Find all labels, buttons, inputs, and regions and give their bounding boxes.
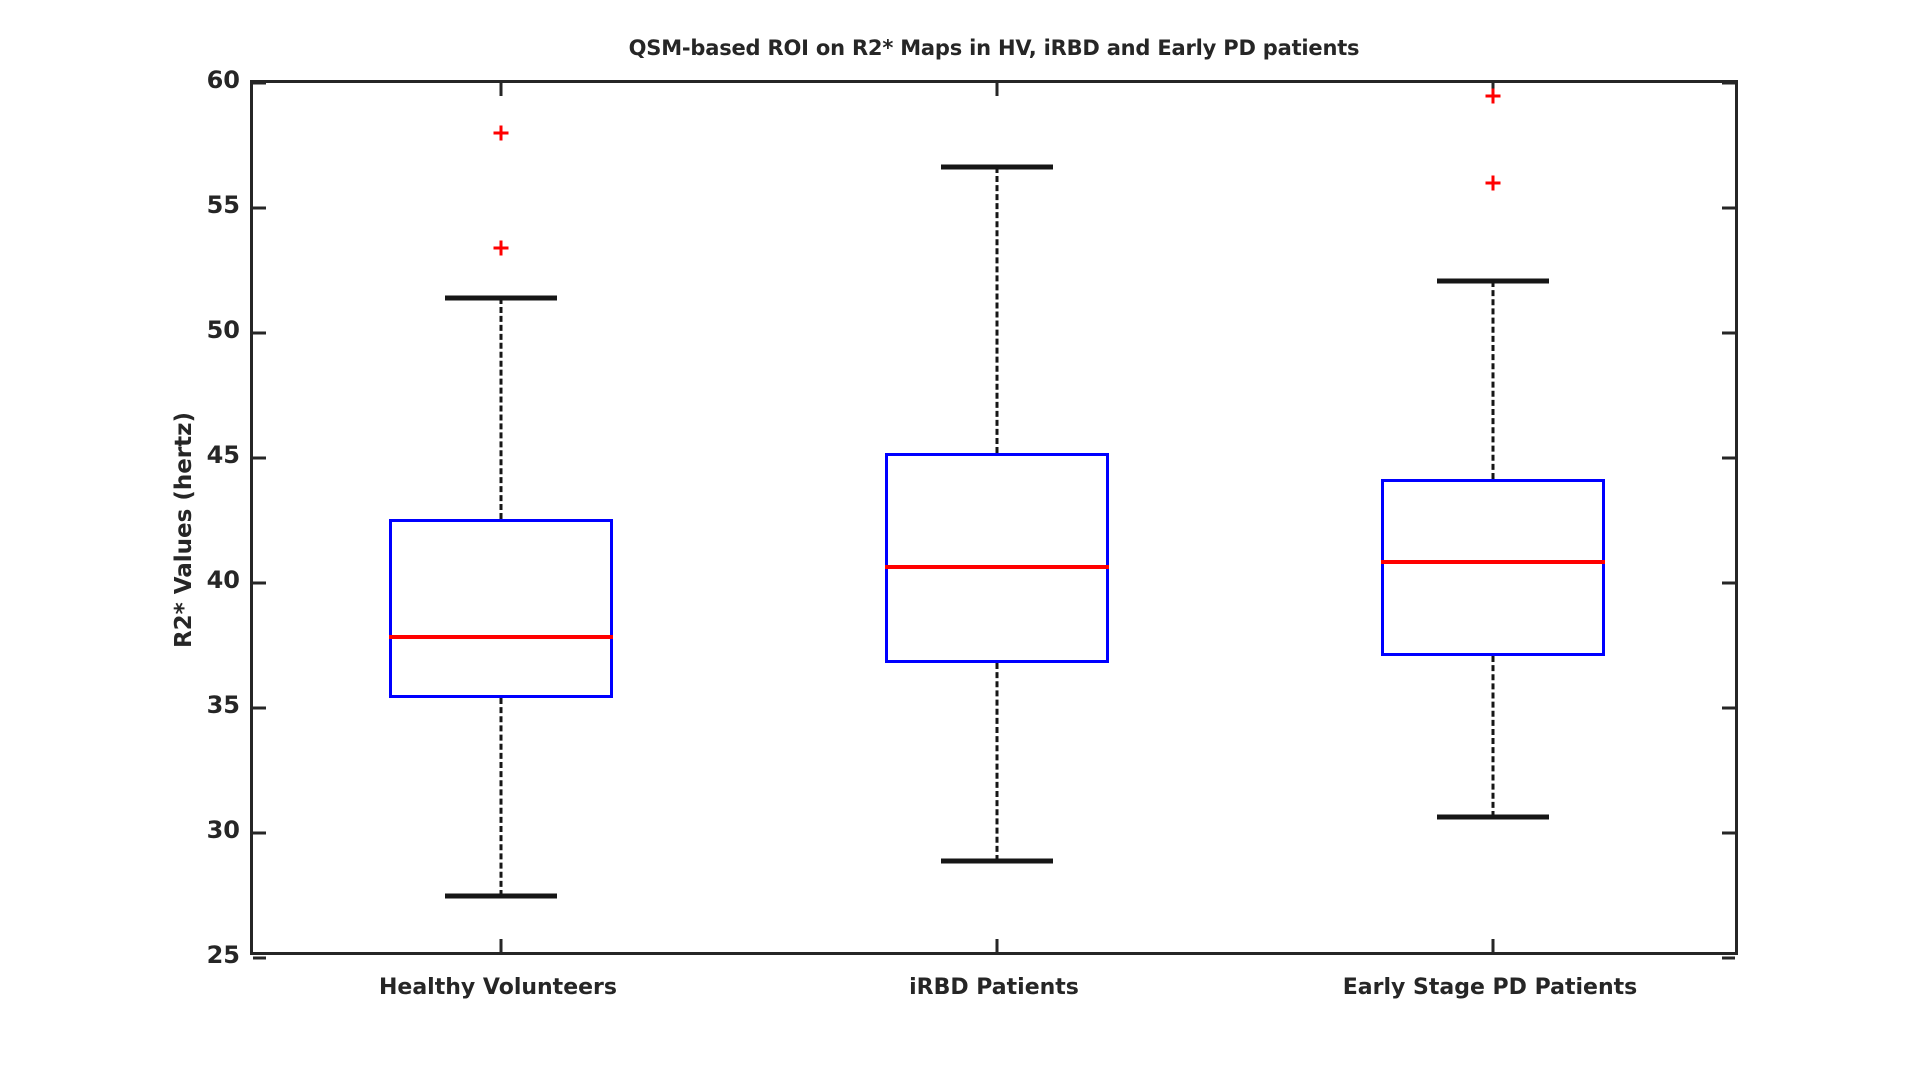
x-axis-tick-mark-top [996, 83, 999, 96]
y-axis-tick-mark-right [1722, 582, 1735, 585]
whisker-lower [1492, 656, 1495, 817]
y-axis-tick-label: 60 [176, 68, 240, 92]
y-axis-tick-label: 35 [176, 693, 240, 717]
whisker-upper [1492, 281, 1495, 480]
plot-area [250, 80, 1738, 955]
whisker-upper [996, 167, 999, 453]
x-axis-tick-mark [996, 939, 999, 952]
y-axis-tick-mark [253, 82, 266, 85]
page-title: QSM-based ROI on R2* Maps in HV, iRBD an… [250, 36, 1738, 60]
y-axis-tick-mark-right [1722, 207, 1735, 210]
whisker-lower [996, 663, 999, 861]
median-line [389, 635, 613, 639]
y-axis-tick-mark [253, 832, 266, 835]
y-axis-tick-mark [253, 207, 266, 210]
x-axis-tick-mark [1492, 939, 1495, 952]
x-axis-tick-label: iRBD Patients [784, 975, 1204, 1000]
figure-canvas: QSM-based ROI on R2* Maps in HV, iRBD an… [0, 0, 1920, 1076]
y-axis-tick-label: 30 [176, 818, 240, 842]
y-axis-tick-mark-right [1722, 82, 1735, 85]
y-axis-tick-label: 55 [176, 193, 240, 217]
whisker-cap-upper [941, 164, 1053, 169]
median-line [885, 565, 1109, 569]
median-line [1381, 560, 1605, 564]
outlier-marker [1486, 176, 1501, 191]
whisker-cap-lower [941, 858, 1053, 863]
whisker-cap-upper [1437, 278, 1549, 283]
y-axis-tick-mark [253, 707, 266, 710]
whisker-cap-upper [445, 296, 557, 301]
outlier-marker [494, 241, 509, 256]
x-axis-tick-label: Early Stage PD Patients [1280, 975, 1700, 1000]
whisker-cap-lower [1437, 814, 1549, 819]
whisker-lower [500, 698, 503, 896]
y-axis-tick-label: 40 [176, 568, 240, 592]
y-axis-tick-label: 25 [176, 943, 240, 967]
y-axis-tick-mark [253, 582, 266, 585]
y-axis-tick-mark [253, 457, 266, 460]
x-axis-tick-mark-top [500, 83, 503, 96]
y-axis-title-container: R2* Values (hertz) [142, 80, 166, 955]
y-axis-tick-mark-right [1722, 832, 1735, 835]
y-axis-tick-mark-right [1722, 332, 1735, 335]
y-axis-tick-mark-right [1722, 457, 1735, 460]
y-axis-tick-mark [253, 332, 266, 335]
y-axis-tick-mark-right [1722, 957, 1735, 960]
y-axis-tick-mark [253, 957, 266, 960]
outlier-marker [494, 126, 509, 141]
box-body [885, 453, 1109, 663]
plot-inner [253, 83, 1735, 952]
y-axis-tick-label: 50 [176, 318, 240, 342]
whisker-cap-lower [445, 893, 557, 898]
y-axis-tick-labels: 6055504540353025 [166, 80, 240, 955]
y-axis-tick-label: 45 [176, 443, 240, 467]
x-axis-tick-mark [500, 939, 503, 952]
whisker-upper [500, 298, 503, 519]
box-body [1381, 479, 1605, 655]
y-axis-tick-mark-right [1722, 707, 1735, 710]
box-body [389, 519, 613, 698]
outlier-marker [1486, 88, 1501, 103]
x-axis-tick-label: Healthy Volunteers [288, 975, 708, 1000]
